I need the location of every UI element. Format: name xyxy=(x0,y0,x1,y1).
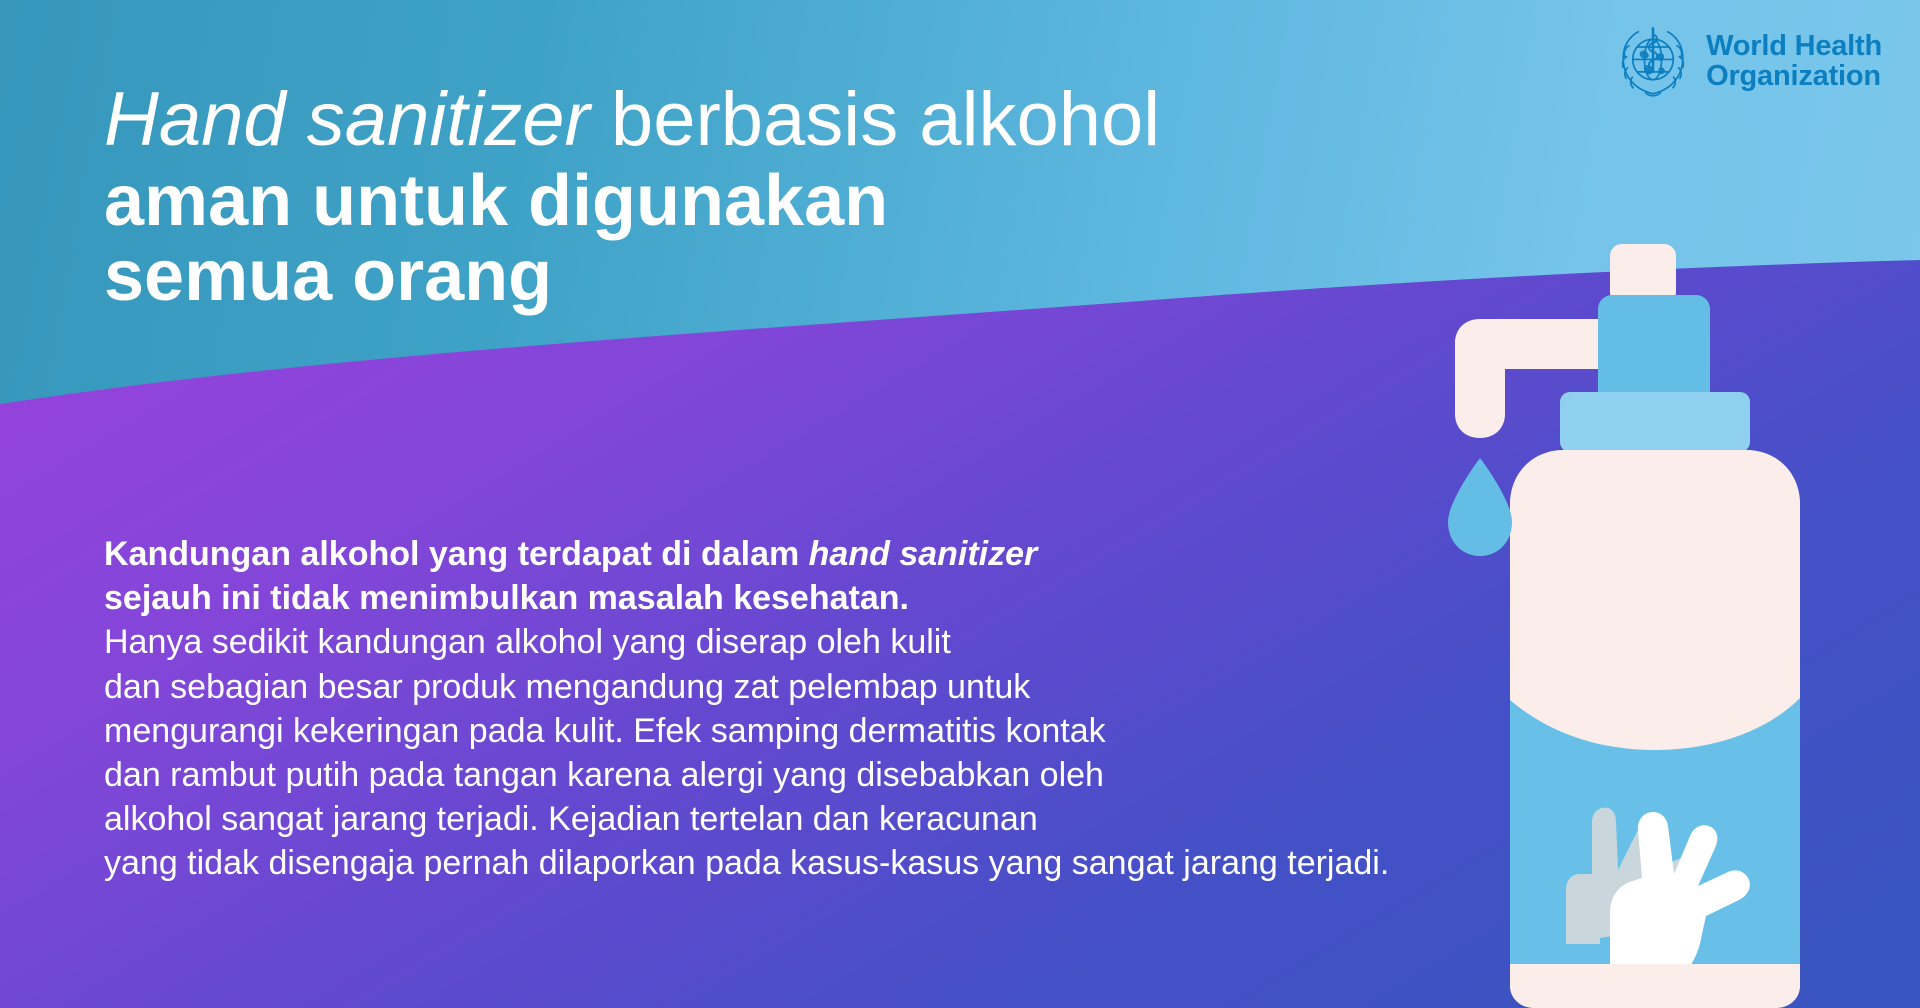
body-strong-line-2: sejauh ini tidak menimbulkan masalah kes… xyxy=(104,576,1389,620)
body-strong-line-1-text: Kandungan alkohol yang terdapat di dalam xyxy=(104,535,809,573)
hand-sanitizer-bottle-icon xyxy=(1360,222,1920,1008)
body-strong-line-1-emphasis: hand sanitizer xyxy=(809,535,1038,573)
who-logo-text: World Health Organization xyxy=(1706,31,1882,91)
body-line-5: mengurangi kekeringan pada kulit. Efek s… xyxy=(104,709,1389,753)
body-line-3: Hanya sedikit kandungan alkohol yang dis… xyxy=(104,620,1389,664)
headline-line-1-rest: berbasis alkohol xyxy=(590,77,1160,162)
bottle-base xyxy=(1510,964,1800,1008)
body-copy: Kandungan alkohol yang terdapat di dalam… xyxy=(104,532,1389,886)
headline-emphasis: Hand sanitizer xyxy=(104,77,590,162)
body-line-8: yang tidak disengaja pernah dilaporkan p… xyxy=(104,841,1389,885)
who-hand-sanitizer-infographic: World Health Organization Hand sanitizer… xyxy=(0,0,1920,1008)
who-logo: World Health Organization xyxy=(1614,22,1882,100)
sanitizer-droplet xyxy=(1448,458,1512,556)
who-emblem-icon xyxy=(1614,22,1692,100)
headline: Hand sanitizer berbasis alkohol aman unt… xyxy=(104,84,1160,317)
hand-sanitizer-bottle-illustration xyxy=(1360,222,1920,1008)
headline-line-2: aman untuk digunakan xyxy=(104,167,1160,236)
headline-line-3: semua orang xyxy=(104,242,1160,311)
body-strong-line-1: Kandungan alkohol yang terdapat di dalam… xyxy=(104,532,1389,576)
body-line-4: dan sebagian besar produk mengandung zat… xyxy=(104,665,1389,709)
headline-line-1: Hand sanitizer berbasis alkohol xyxy=(104,84,1160,157)
body-line-7: alkohol sangat jarang terjadi. Kejadian … xyxy=(104,797,1389,841)
body-line-6: dan rambut putih pada tangan karena aler… xyxy=(104,753,1389,797)
bottle-body-upper xyxy=(1510,450,1800,750)
bottle-collar xyxy=(1560,392,1750,452)
